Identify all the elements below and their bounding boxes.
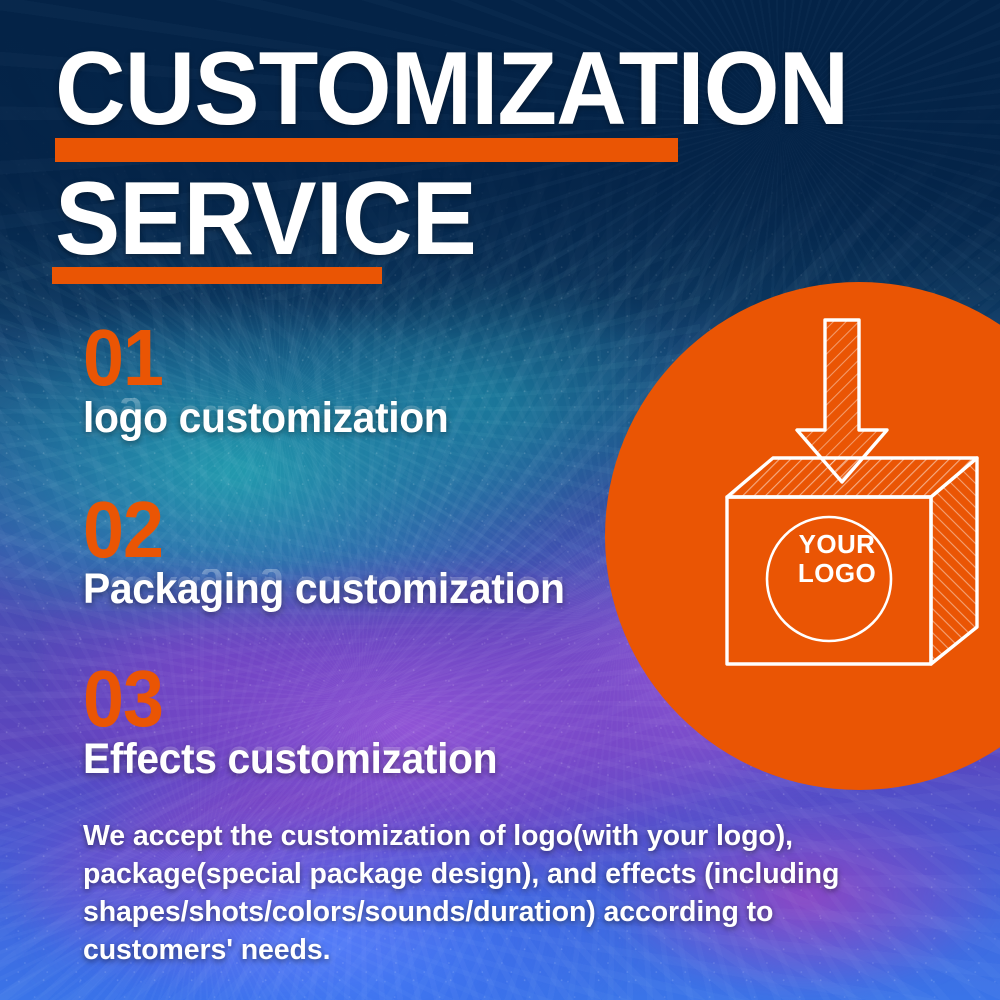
body-copy: We accept the customization of logo(with…: [83, 818, 853, 970]
service-number: 03: [83, 666, 653, 732]
title-line-1: CUSTOMIZATION: [55, 46, 769, 133]
service-number: 01: [83, 325, 653, 391]
page-title: CUSTOMIZATION SERVICE: [55, 46, 815, 284]
service-label: Packaging customization: [83, 568, 565, 611]
service-number: 02: [83, 497, 653, 563]
title-line-2: SERVICE: [55, 176, 769, 263]
title-line-2-wrap: SERVICE: [55, 176, 815, 283]
customization-service-poster: CUSTOMIZATION SERVICE 01 logo customizat…: [0, 0, 1000, 1000]
service-label: Effects customization: [83, 738, 497, 781]
logo-placeholder-text: YOUR LOGO: [782, 530, 892, 588]
service-label: logo customization: [83, 397, 448, 440]
